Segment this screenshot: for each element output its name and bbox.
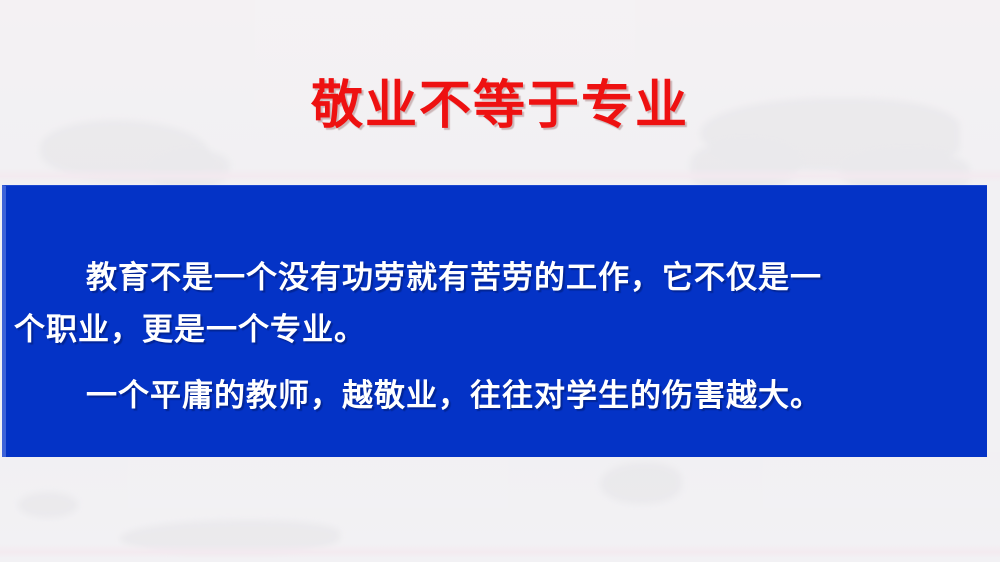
content-panel: 教育不是一个没有功劳就有苦劳的工作，它不仅是一 个职业，更是一个专业。 一个平庸… — [2, 185, 987, 457]
watermark-pink-band-bottom — [0, 544, 1000, 558]
title-area: 敬业不等于专业 — [0, 66, 1000, 146]
paragraph-2-line-1: 一个平庸的教师，越敬业，往往对学生的伤害越大。 — [14, 370, 974, 422]
paragraph-1-line-2: 个职业，更是一个专业。 — [14, 304, 974, 356]
paragraph-spacer — [14, 356, 974, 370]
page-title: 敬业不等于专业 — [311, 80, 689, 132]
slide-canvas: 敬业不等于专业 教育不是一个没有功劳就有苦劳的工作，它不仅是一 个职业，更是一个… — [0, 0, 1000, 562]
paragraph-1-line-1: 教育不是一个没有功劳就有苦劳的工作，它不仅是一 — [14, 252, 974, 304]
watermark-pink-band-top — [0, 168, 1000, 182]
watermark-speckle-left — [18, 492, 78, 518]
watermark-continent-oceania — [600, 462, 682, 504]
watermark-bottom-tint — [0, 452, 1000, 562]
watermark-continent-south-america — [150, 150, 230, 190]
content-text-block: 教育不是一个没有功劳就有苦劳的工作，它不仅是一 个职业，更是一个专业。 一个平庸… — [14, 252, 974, 422]
watermark-continent-antarctic — [120, 520, 340, 554]
